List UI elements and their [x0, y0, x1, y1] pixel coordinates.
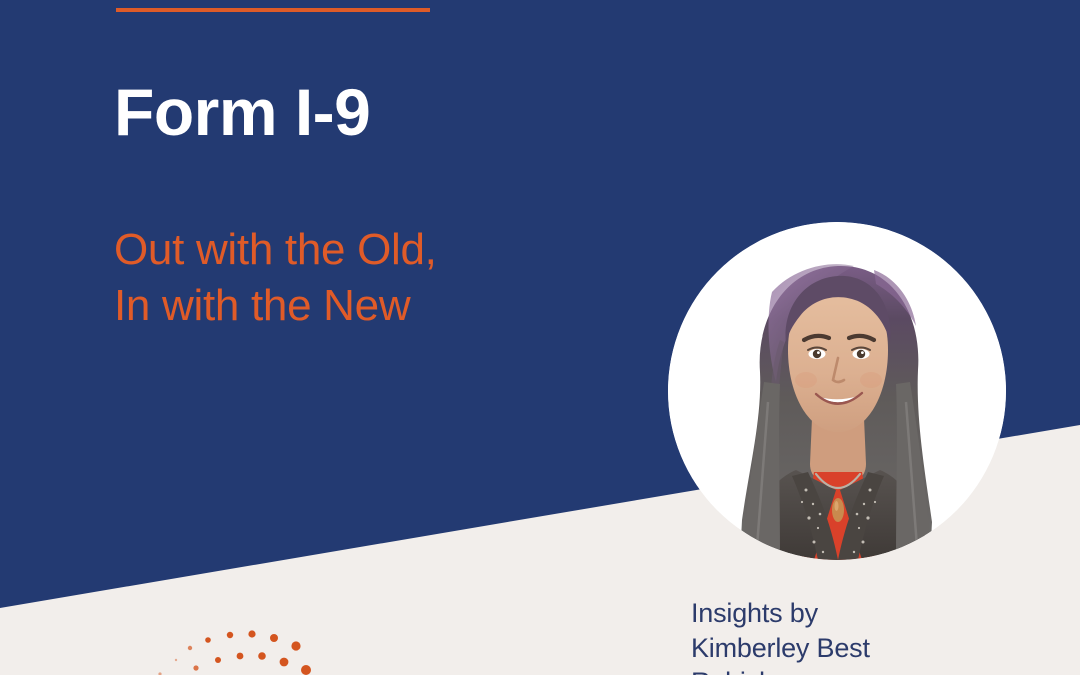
dot-fan-icon: [138, 618, 388, 675]
page-title: Form I-9: [114, 78, 674, 147]
portrait-illustration: [668, 222, 1006, 560]
byline: Insights by Kimberley Best Rubich: [691, 596, 1021, 675]
byline-line-1: Insights by: [691, 596, 1021, 631]
top-accent-rule-icon: [116, 8, 430, 12]
headline-block: Form I-9: [114, 78, 674, 147]
subtitle: Out with the Old, In with the New: [114, 222, 674, 335]
byline-line-3: Rubich: [691, 665, 1021, 675]
subtitle-line-1: Out with the Old,: [114, 222, 674, 278]
speaker-portrait-avatar: [668, 222, 1006, 560]
dot-cluster-decoration-icon: [138, 618, 388, 675]
presentation-slide: Form I-9 Out with the Old, In with the N…: [0, 0, 1080, 675]
byline-line-2: Kimberley Best: [691, 631, 1021, 666]
subtitle-line-2: In with the New: [114, 278, 674, 334]
